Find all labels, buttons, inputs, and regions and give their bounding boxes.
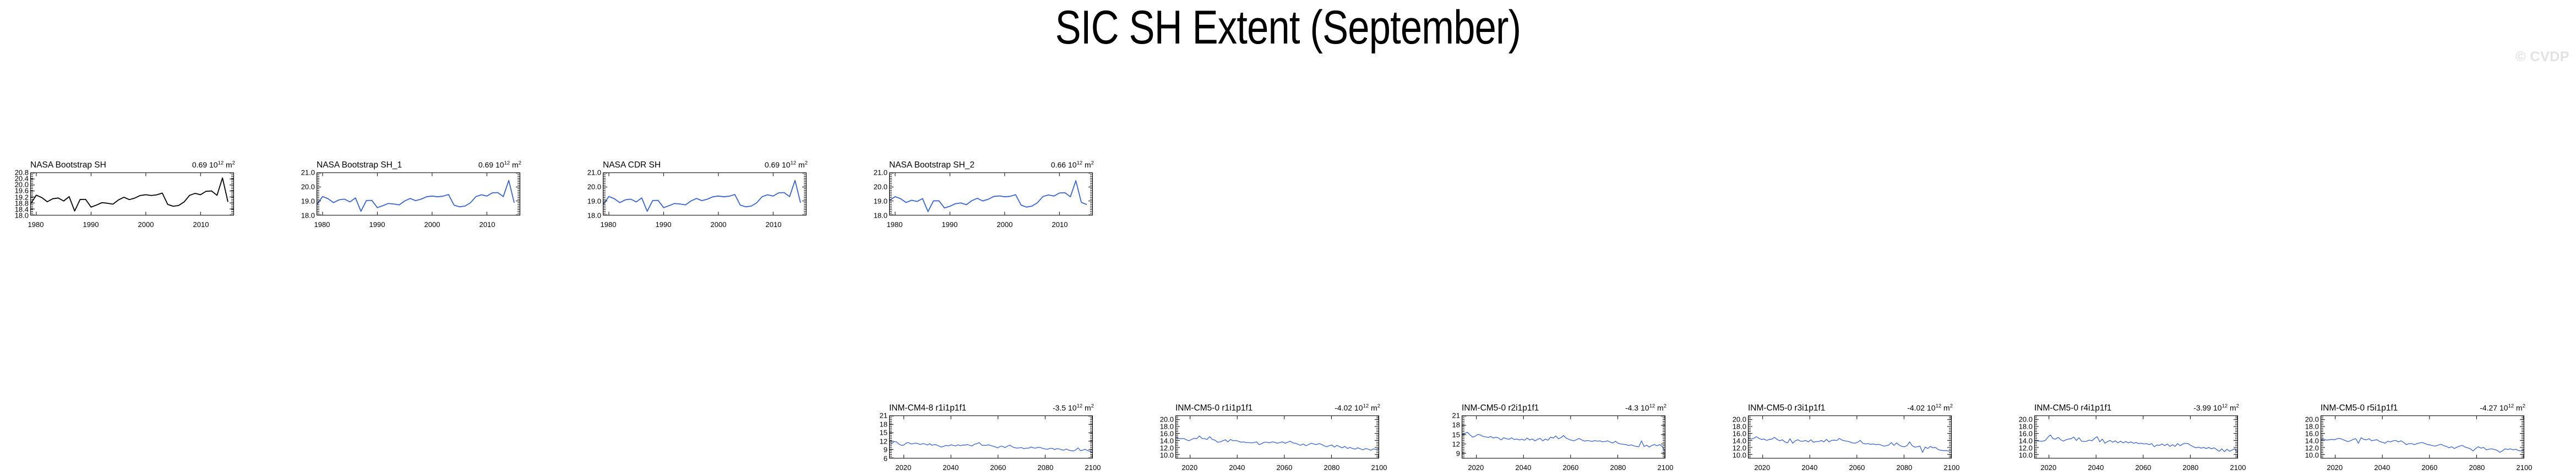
y-tick-label: 21.0	[874, 169, 887, 176]
y-axis-labels: 10.012.014.016.018.020.0	[1729, 415, 1746, 458]
y-tick-label: 20.0	[874, 183, 887, 191]
x-tick-label: 2020	[1754, 464, 1770, 471]
y-tick-label: 18	[1452, 422, 1460, 429]
panel-value-label: -4.27 1012 m2	[2480, 404, 2525, 412]
x-axis-labels: 20202040206020802100	[1462, 464, 1665, 473]
series-line	[890, 181, 1087, 212]
y-tick-label: 19.0	[874, 198, 887, 205]
panel-value-label: 0.69 1012 m2	[192, 161, 235, 169]
series-line	[1749, 436, 1951, 452]
x-tick-label: 2080	[2182, 464, 2198, 471]
panel-value-label: 0.66 1012 m2	[1051, 161, 1094, 169]
y-axis-labels: 10.012.014.016.018.020.0	[1156, 415, 1174, 458]
y-tick-label: 18.0	[2019, 423, 2033, 430]
x-tick-label: 2060	[1276, 464, 1292, 471]
panel-title: NASA Bootstrap SH_2	[889, 161, 974, 169]
y-tick-label: 20.8	[15, 169, 29, 176]
x-tick-label: 2020	[2040, 464, 2056, 471]
x-tick-label: 2100	[1658, 464, 1674, 471]
plot-area	[1175, 415, 1379, 458]
plot-area	[889, 172, 1093, 215]
y-tick-label: 19.0	[587, 198, 601, 205]
panel-title: INM-CM4-8 r1i1p1f1	[889, 404, 966, 412]
x-axis-labels: 20202040206020802100	[1175, 464, 1379, 473]
y-tick-label: 14.0	[2019, 437, 2033, 444]
x-axis-labels: 20202040206020802100	[1748, 464, 1952, 473]
y-axis-labels: 18.019.020.021.0	[584, 172, 601, 215]
y-tick-label: 18	[880, 420, 887, 428]
y-tick-label: 16.0	[1160, 430, 1174, 437]
series-line	[603, 180, 800, 211]
x-tick-label: 1980	[314, 221, 330, 228]
panel-value-label: 0.69 1012 m2	[765, 161, 808, 169]
x-axis-labels: 20202040206020802100	[2321, 464, 2524, 473]
plot-area	[2321, 415, 2524, 458]
y-tick-label: 21	[1452, 412, 1460, 419]
x-axis-labels: 1980199020002010	[30, 221, 234, 230]
series-line	[2321, 438, 2524, 452]
y-axis-labels: 18.019.020.021.0	[297, 172, 315, 215]
y-tick-label: 14.0	[1160, 437, 1174, 444]
y-tick-label: 21.0	[587, 169, 601, 176]
x-tick-label: 1980	[28, 221, 44, 228]
x-tick-label: 2000	[997, 221, 1013, 228]
y-tick-label: 12	[880, 438, 887, 445]
x-tick-label: 1980	[887, 221, 903, 228]
y-tick-label: 18.0	[874, 212, 887, 219]
x-tick-label: 2040	[1801, 464, 1817, 471]
y-axis-labels: 912151821	[1442, 415, 1460, 458]
x-tick-label: 2020	[1468, 464, 1484, 471]
panel-value-label: -4.02 1012 m2	[1335, 404, 1380, 412]
x-tick-label: 2010	[766, 221, 782, 228]
y-tick-label: 16.0	[2019, 430, 2033, 437]
x-tick-label: 2100	[1944, 464, 1960, 471]
x-tick-label: 2000	[138, 221, 154, 228]
y-tick-label: 20.0	[587, 183, 601, 191]
series-line	[2035, 435, 2237, 452]
y-tick-label: 10.0	[1160, 451, 1174, 458]
x-tick-label: 2040	[2374, 464, 2390, 471]
x-tick-label: 2000	[424, 221, 440, 228]
panel-value-label: 0.69 1012 m2	[478, 161, 521, 169]
x-axis-labels: 1980199020002010	[603, 221, 807, 230]
y-axis-labels: 18.018.418.819.219.620.020.420.8	[11, 172, 29, 215]
y-tick-label: 16.0	[2305, 430, 2319, 437]
x-tick-label: 1980	[601, 221, 617, 228]
y-tick-label: 19.0	[301, 198, 315, 205]
x-tick-label: 1990	[942, 221, 958, 228]
y-axis-labels: 18.019.020.021.0	[870, 172, 887, 215]
y-tick-label: 14.0	[2305, 437, 2319, 444]
panel-value-label: -4.02 1012 m2	[1907, 404, 1953, 412]
x-tick-label: 2000	[711, 221, 727, 228]
plot-area	[603, 172, 807, 215]
y-tick-label: 12.0	[1160, 444, 1174, 451]
x-tick-label: 2060	[2421, 464, 2437, 471]
y-tick-label: 20.0	[2019, 415, 2033, 423]
y-tick-label: 18.0	[587, 212, 601, 219]
plot-area	[2034, 415, 2238, 458]
x-tick-label: 2060	[1562, 464, 1578, 471]
x-tick-label: 1990	[369, 221, 385, 228]
x-tick-label: 2080	[1896, 464, 1912, 471]
x-axis-labels: 20202040206020802100	[2034, 464, 2238, 473]
series-line	[1176, 436, 1379, 450]
x-tick-label: 2080	[1610, 464, 1626, 471]
y-tick-label: 10.0	[1733, 451, 1746, 458]
series-line	[890, 441, 1092, 452]
x-tick-label: 2040	[1229, 464, 1245, 471]
x-tick-label: 2010	[193, 221, 209, 228]
plot-area	[889, 415, 1093, 458]
panel-title: NASA Bootstrap SH	[30, 161, 106, 169]
x-tick-label: 2020	[2327, 464, 2343, 471]
y-tick-label: 15	[1452, 431, 1460, 438]
y-axis-labels: 6912151821	[870, 415, 887, 458]
y-tick-label: 12.0	[2019, 444, 2033, 451]
y-tick-label: 16.0	[1733, 430, 1746, 437]
x-tick-label: 2010	[1052, 221, 1068, 228]
x-tick-label: 2020	[895, 464, 911, 471]
y-tick-label: 18.0	[301, 212, 315, 219]
y-tick-label: 18.0	[2305, 423, 2319, 430]
x-tick-label: 2060	[990, 464, 1006, 471]
x-axis-labels: 1980199020002010	[317, 221, 520, 230]
y-tick-label: 20.0	[1160, 415, 1174, 423]
x-tick-label: 1990	[656, 221, 672, 228]
panel-title: NASA Bootstrap SH_1	[317, 161, 402, 169]
x-axis-labels: 1980199020002010	[889, 221, 1093, 230]
panel-title: INM-CM5-0 r5i1p1f1	[2321, 404, 2398, 412]
x-tick-label: 2020	[1181, 464, 1197, 471]
panel-title: INM-CM5-0 r2i1p1f1	[1462, 404, 1539, 412]
x-tick-label: 2060	[2135, 464, 2151, 471]
y-tick-label: 9	[884, 446, 887, 454]
page-title: SIC SH Extent (September)	[232, 0, 2344, 58]
y-tick-label: 18.0	[1733, 423, 1746, 430]
y-tick-label: 15	[880, 429, 887, 436]
y-tick-label: 6	[884, 455, 887, 462]
y-tick-label: 10.0	[2305, 451, 2319, 458]
x-tick-label: 2100	[1085, 464, 1101, 471]
y-tick-label: 21	[880, 412, 887, 419]
plot-area	[317, 172, 520, 215]
y-tick-label: 20.0	[1733, 415, 1746, 423]
x-tick-label: 1990	[83, 221, 99, 228]
y-tick-label: 12.0	[1733, 444, 1746, 451]
y-tick-label: 20.0	[301, 183, 315, 191]
panel-title: INM-CM5-0 r1i1p1f1	[1175, 404, 1252, 412]
panel-title: INM-CM5-0 r3i1p1f1	[1748, 404, 1825, 412]
panel-value-label: -4.3 1012 m2	[1625, 404, 1666, 412]
plot-area	[1748, 415, 1952, 458]
y-tick-label: 18.0	[1160, 423, 1174, 430]
y-tick-label: 20.0	[2305, 415, 2319, 423]
plot-area	[30, 172, 234, 215]
x-tick-label: 2040	[2088, 464, 2104, 471]
y-axis-labels: 10.012.014.016.018.020.0	[2301, 415, 2319, 458]
series-line	[31, 178, 228, 211]
y-tick-label: 12	[1452, 441, 1460, 448]
series-line	[1462, 432, 1665, 451]
x-tick-label: 2040	[1515, 464, 1531, 471]
y-tick-label: 9	[1456, 450, 1460, 457]
x-tick-label: 2100	[1371, 464, 1387, 471]
panel-value-label: -3.5 1012 m2	[1053, 404, 1094, 412]
x-tick-label: 2100	[2517, 464, 2533, 471]
plot-area	[1462, 415, 1665, 458]
y-tick-label: 10.0	[2019, 451, 2033, 458]
y-tick-label: 21.0	[301, 169, 315, 176]
x-tick-label: 2010	[480, 221, 495, 228]
panel-title: NASA CDR SH	[603, 161, 661, 169]
x-tick-label: 2060	[1849, 464, 1865, 471]
x-tick-label: 2100	[2230, 464, 2246, 471]
panel-value-label: -3.99 1012 m2	[2193, 404, 2239, 412]
x-tick-label: 2080	[1037, 464, 1053, 471]
y-axis-labels: 10.012.014.016.018.020.0	[2015, 415, 2033, 458]
x-tick-label: 2080	[1324, 464, 1339, 471]
x-axis-labels: 20202040206020802100	[889, 464, 1093, 473]
cvdp-watermark: © CVDP	[2515, 49, 2569, 65]
x-tick-label: 2080	[2469, 464, 2485, 471]
y-tick-label: 14.0	[1733, 437, 1746, 444]
y-tick-label: 12.0	[2305, 444, 2319, 451]
series-line	[317, 180, 514, 211]
x-tick-label: 2040	[943, 464, 958, 471]
panel-title: INM-CM5-0 r4i1p1f1	[2034, 404, 2111, 412]
